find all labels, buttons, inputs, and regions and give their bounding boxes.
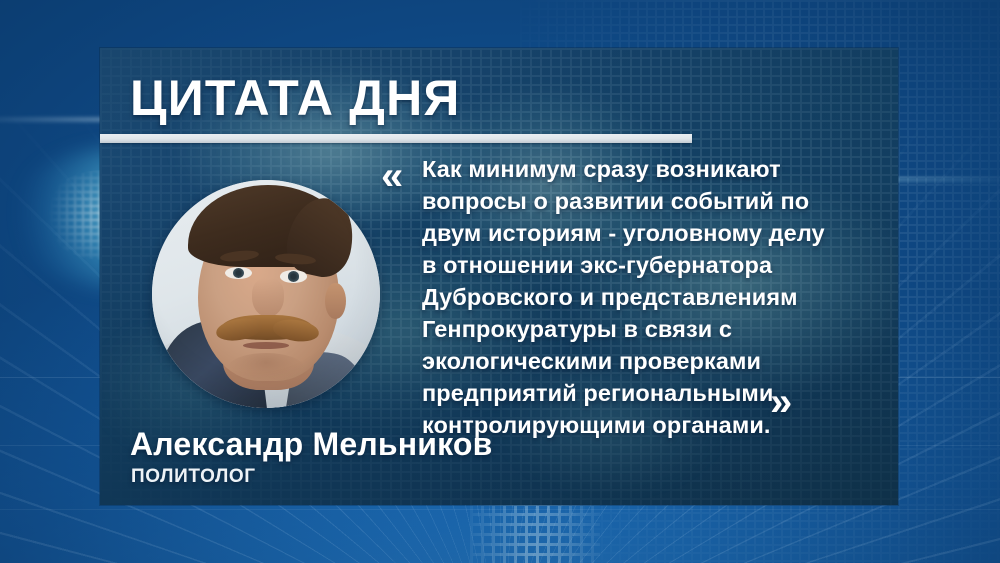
quote-open-icon: «: [381, 156, 403, 196]
quote-line: двум историям - уголовному делу: [422, 217, 842, 249]
quote-card-panel: ЦИТАТА ДНЯ «: [100, 48, 898, 505]
quote-line: экологическими проверками: [422, 345, 842, 377]
quote-line: Дубровского и представлениям: [422, 281, 842, 313]
person-role: ПОЛИТОЛОГ: [131, 466, 256, 488]
quote-line: в отношении экс-губернатора: [422, 249, 842, 281]
quote-line: вопросы о развитии событий по: [422, 185, 842, 217]
avatar-vignette: [152, 180, 380, 408]
quote-text: Как минимум сразу возникают вопросы о ра…: [422, 153, 842, 441]
person-name: Александр Мельников: [130, 426, 493, 463]
quote-line: Как минимум сразу возникают: [422, 153, 842, 185]
avatar: [152, 180, 380, 408]
quote-card-graphic: ЦИТАТА ДНЯ «: [0, 0, 1000, 563]
quote-line: предприятий региональными: [422, 377, 842, 409]
quote-line: Генпрокуратуры в связи с: [422, 313, 842, 345]
page-title: ЦИТАТА ДНЯ: [130, 73, 461, 123]
title-divider: [100, 134, 692, 143]
